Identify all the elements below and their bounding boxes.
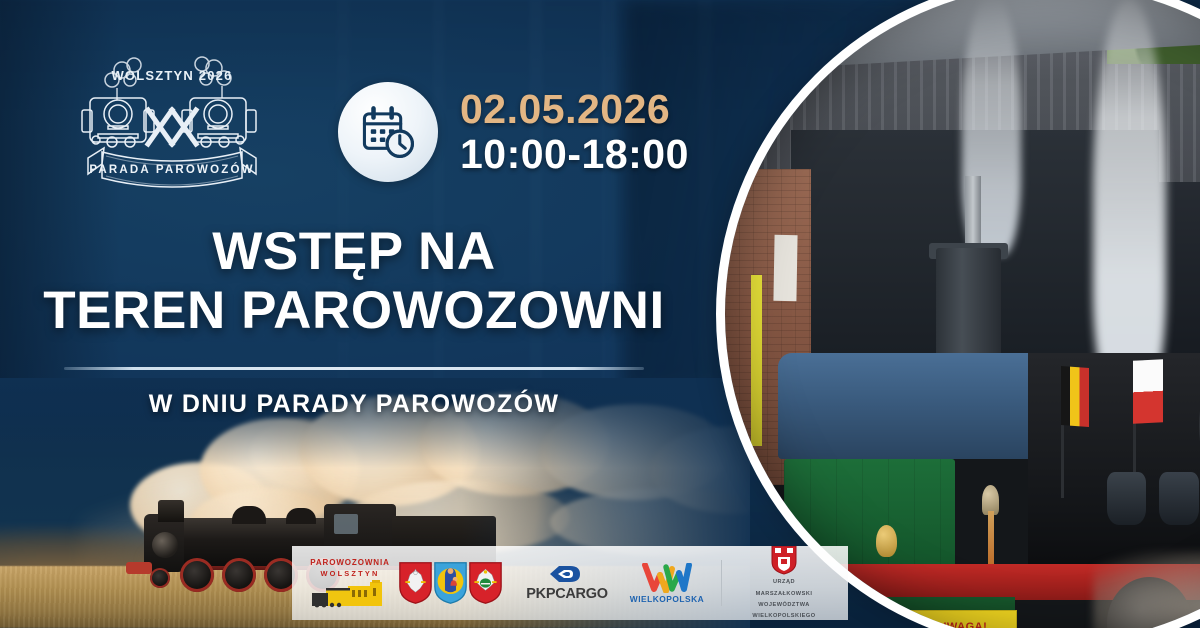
headline-divider	[64, 367, 644, 370]
headline-line-2: TEREN PAROWOZOWNI	[0, 281, 708, 340]
urzad-line-1: URZĄD	[773, 578, 795, 586]
headline-line-1: WSTĘP NA	[0, 222, 708, 281]
coat-of-arms-wolsztyn-madonna	[433, 559, 468, 607]
poster-canvas: WOLSZTYN 2026 PARADA PAROWOZÓW	[0, 0, 1200, 628]
event-datetime: 02.05.2026 10:00-18:00	[338, 82, 689, 182]
sponsor-pkp-cargo: PKPCARGO	[513, 564, 621, 602]
wolsztyn-parade-emblem: WOLSZTYN 2026 PARADA PAROWOZÓW	[72, 52, 272, 200]
steam-locomotive-circle-photo: UWAGA!	[716, 0, 1200, 628]
urzad-line-3: WOJEWÓDZTWA	[758, 601, 810, 609]
headline-subtitle: W DNIU PARADY PAROWOZÓW	[0, 390, 708, 419]
urzad-line-2: MARSZAŁKOWSKI	[756, 590, 813, 598]
roundhouse-illustration	[308, 580, 392, 608]
coat-of-arms-powiat	[468, 559, 503, 607]
wielkopolska-icon	[641, 563, 693, 593]
sponsor-divider	[721, 560, 722, 606]
sponsor-wielkopolska: WIELKOPOLSKA	[621, 563, 713, 604]
urzad-coat-of-arms-icon	[771, 546, 797, 575]
calendar-clock-icon	[338, 82, 438, 182]
wielkopolska-label: WIELKOPOLSKA	[630, 594, 704, 604]
coat-of-arms-wielkopolska	[398, 559, 433, 607]
pkp-cargo-icon	[550, 564, 584, 584]
headline-block: WSTĘP NA TEREN PAROWOZOWNI W DNIU PARADY…	[0, 222, 708, 419]
event-time: 10:00-18:00	[460, 134, 689, 176]
sponsor-parowozownia-wolsztyn: PAROWOZOWNIA WOLSZTYN	[302, 558, 398, 608]
parowozownia-title: PAROWOZOWNIA	[310, 558, 390, 567]
urzad-line-4: WIELKOPOLSKIEGO	[752, 612, 815, 620]
pkp-cargo-label: PKPCARGO	[526, 586, 607, 602]
sponsor-bar: PAROWOZOWNIA WOLSZTYN	[292, 546, 848, 620]
event-date: 02.05.2026	[460, 89, 689, 131]
parowozownia-subtitle: WOLSZTYN	[320, 569, 379, 578]
sponsor-urzad-marszalkowski: URZĄD MARSZAŁKOWSKI WOJEWÓDZTWA WIELKOPO…	[730, 546, 838, 620]
